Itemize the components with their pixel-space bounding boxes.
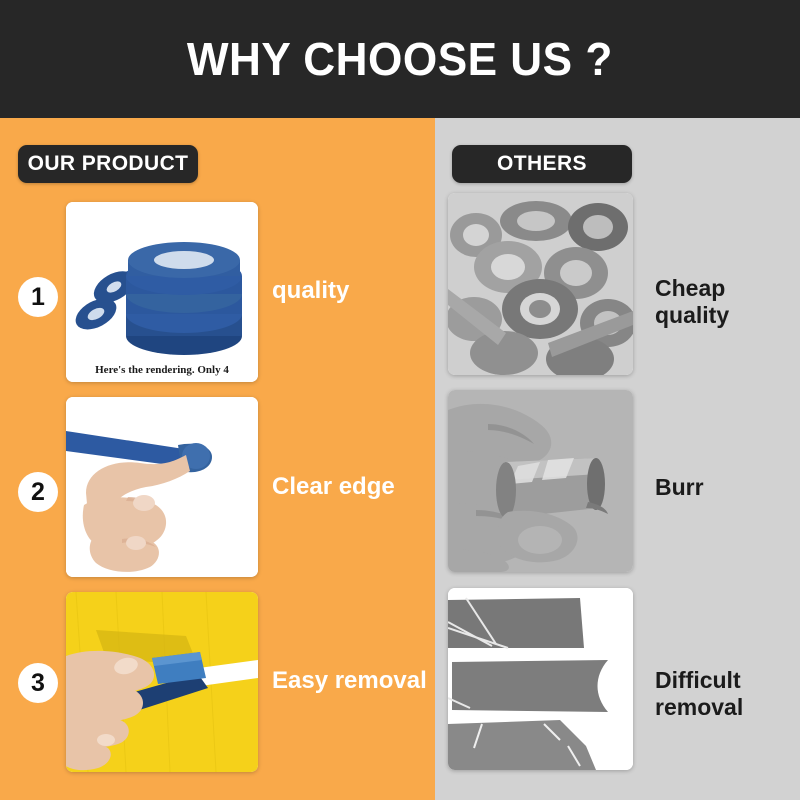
left-label-row-3: Easy removal: [272, 668, 432, 695]
gray-tape-rolls-pile-photo: [448, 193, 633, 375]
infographic-page: WHY CHOOSE US ? OUR PRODUCT OTHERS 1 2 3: [0, 0, 800, 800]
right-label-row-2: Burr: [655, 474, 795, 501]
step-number-3: 3: [18, 663, 58, 703]
right-label-row-1: Cheap quality: [655, 275, 795, 328]
photo-caption: Here's the rendering. Only 4: [66, 364, 258, 376]
blue-tape-rolls-stack-photo: Here's the rendering. Only 4: [66, 202, 258, 382]
left-label-row-2: Clear edge: [272, 474, 432, 501]
hand-peeling-blue-tape-yellow-surface-photo: [66, 592, 258, 772]
step-number-2: 2: [18, 472, 58, 512]
page-title: WHY CHOOSE US ?: [187, 36, 613, 82]
left-label-row-1: quality: [272, 278, 432, 305]
hand-holding-gray-tape-roll-photo: [448, 390, 633, 572]
our-product-badge: OUR PRODUCT: [18, 145, 198, 183]
gray-tape-strips-torn-edges-photo: [448, 588, 633, 770]
hand-holding-blue-tape-strip-photo: [66, 397, 258, 577]
header-bar: WHY CHOOSE US ?: [0, 0, 800, 118]
right-label-row-3: Difficult removal: [655, 667, 795, 720]
others-badge: OTHERS: [452, 145, 632, 183]
step-number-1: 1: [18, 277, 58, 317]
